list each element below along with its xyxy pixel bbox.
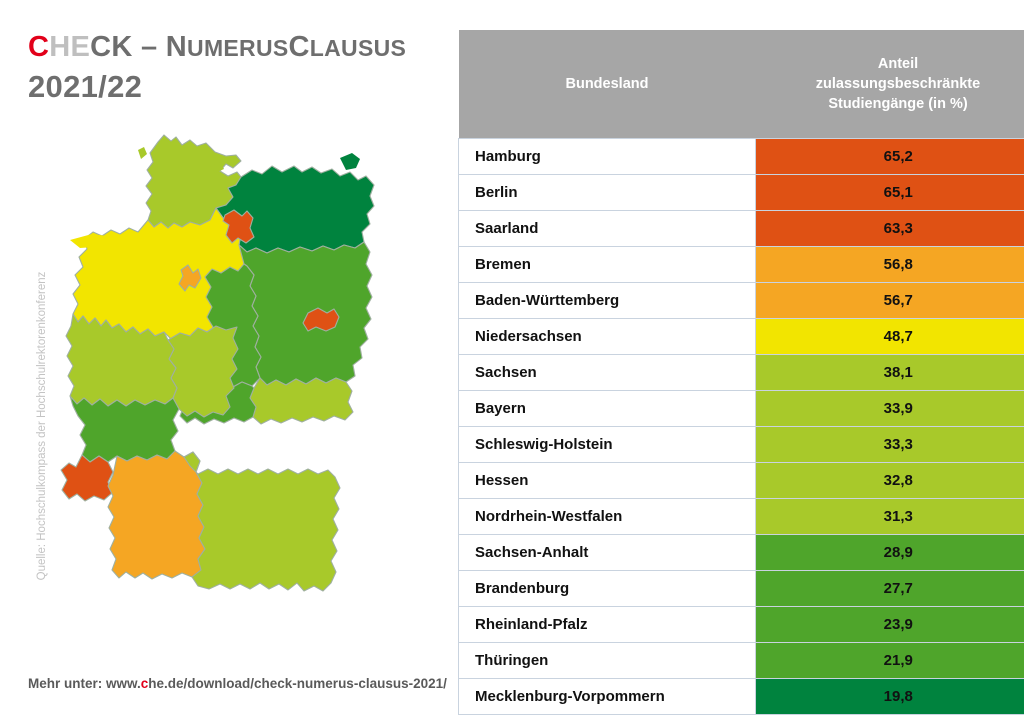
left-panel: CHECK – NUMERUSCLAUSUS 2021/22 Quelle: H…	[0, 0, 450, 708]
table-row[interactable]: Thüringen21,9	[459, 643, 1024, 679]
cell-anteil: 19,8	[756, 679, 1024, 715]
cell-bundesland: Hamburg	[459, 139, 756, 175]
cell-bundesland: Schleswig-Holstein	[459, 427, 756, 463]
column-header-anteil: Anteil zulassungsbeschränkte Studiengäng…	[756, 30, 1024, 139]
cell-bundesland: Baden-Württemberg	[459, 283, 756, 319]
table-row[interactable]: Berlin65,1	[459, 175, 1024, 211]
cell-bundesland: Hessen	[459, 463, 756, 499]
cell-bundesland: Sachsen-Anhalt	[459, 535, 756, 571]
table-row[interactable]: Niedersachsen48,7	[459, 319, 1024, 355]
table-row[interactable]: Baden-Württemberg56,7	[459, 283, 1024, 319]
cell-bundesland: Mecklenburg-Vorpommern	[459, 679, 756, 715]
title-lausus: LAUSUS	[310, 35, 406, 61]
page-subtitle-year: 2021/22	[28, 67, 448, 107]
cell-anteil: 33,3	[756, 427, 1024, 463]
cell-bundesland: Bayern	[459, 391, 756, 427]
page-title: CHECK – NUMERUSCLAUSUS	[28, 30, 448, 65]
table-row[interactable]: Sachsen-Anhalt28,9	[459, 535, 1024, 571]
cell-bundesland: Niedersachsen	[459, 319, 756, 355]
cell-bundesland: Berlin	[459, 175, 756, 211]
cell-anteil: 28,9	[756, 535, 1024, 571]
map-region-sachsen[interactable]	[250, 378, 353, 424]
map-region-baden-wuerttemberg[interactable]	[108, 451, 205, 579]
title-block: CHECK – NUMERUSCLAUSUS 2021/22	[28, 30, 448, 107]
column-header-bundesland: Bundesland	[459, 30, 756, 139]
column-header-anteil-line2: zulassungsbeschränkte	[766, 74, 1024, 94]
table-row[interactable]: Hamburg65,2	[459, 139, 1024, 175]
germany-map-svg	[40, 128, 440, 668]
table-row[interactable]: Nordrhein-Westfalen31,3	[459, 499, 1024, 535]
cell-anteil: 65,1	[756, 175, 1024, 211]
cell-anteil: 63,3	[756, 211, 1024, 247]
cell-anteil: 56,7	[756, 283, 1024, 319]
cell-anteil: 48,7	[756, 319, 1024, 355]
table-body: Hamburg65,2Berlin65,1Saarland63,3Bremen5…	[459, 139, 1024, 715]
cell-anteil: 23,9	[756, 607, 1024, 643]
cell-bundesland: Nordrhein-Westfalen	[459, 499, 756, 535]
map-region-saarland[interactable]	[61, 455, 113, 501]
ranking-table-wrapper: Bundesland Anteil zulassungsbeschränkte …	[458, 30, 1000, 698]
table-row[interactable]: Hessen32,8	[459, 463, 1024, 499]
table-row[interactable]: Saarland63,3	[459, 211, 1024, 247]
table-row[interactable]: Schleswig-Holstein33,3	[459, 427, 1024, 463]
table-row[interactable]: Bayern33,9	[459, 391, 1024, 427]
title-umerus: UMERUS	[187, 35, 288, 61]
cell-bundesland: Bremen	[459, 247, 756, 283]
footer-link[interactable]: Mehr unter: www.che.de/download/check-nu…	[28, 676, 447, 691]
table-head: Bundesland Anteil zulassungsbeschränkte …	[459, 30, 1024, 139]
footer-prefix: Mehr unter: www.	[28, 676, 141, 691]
table-row[interactable]: Bremen56,8	[459, 247, 1024, 283]
cell-bundesland: Saarland	[459, 211, 756, 247]
cell-anteil: 65,2	[756, 139, 1024, 175]
cell-anteil: 56,8	[756, 247, 1024, 283]
table-row[interactable]: Sachsen38,1	[459, 355, 1024, 391]
column-header-anteil-line1: Anteil	[766, 54, 1024, 74]
title-ck: CK	[90, 31, 133, 63]
cell-anteil: 21,9	[756, 643, 1024, 679]
map-region-schleswig-holstein-island	[138, 147, 147, 159]
ranking-table: Bundesland Anteil zulassungsbeschränkte …	[458, 30, 1024, 715]
table-row[interactable]: Mecklenburg-Vorpommern19,8	[459, 679, 1024, 715]
table-header-row: Bundesland Anteil zulassungsbeschränkte …	[459, 30, 1024, 139]
map-region-hessen[interactable]	[168, 326, 238, 417]
cell-anteil: 33,9	[756, 391, 1024, 427]
map-region-brandenburg[interactable]	[239, 242, 372, 385]
table-row[interactable]: Brandenburg27,7	[459, 571, 1024, 607]
footer-suffix: he.de/download/check-numerus-clausus-202…	[148, 676, 447, 691]
cell-bundesland: Rheinland-Pfalz	[459, 607, 756, 643]
title-c: C	[28, 31, 49, 63]
infographic-page: CHECK – NUMERUSCLAUSUS 2021/22 Quelle: H…	[0, 0, 1024, 708]
cell-anteil: 38,1	[756, 355, 1024, 391]
map-region-mecklenburg-vorpommern-island	[340, 153, 360, 170]
cell-anteil: 31,3	[756, 499, 1024, 535]
cell-bundesland: Sachsen	[459, 355, 756, 391]
map-region-rheinland-pfalz[interactable]	[70, 396, 179, 462]
germany-map	[40, 128, 440, 668]
title-c2: C	[289, 31, 310, 63]
title-n: N	[166, 31, 187, 63]
cell-bundesland: Thüringen	[459, 643, 756, 679]
table-row[interactable]: Rheinland-Pfalz23,9	[459, 607, 1024, 643]
title-he: HE	[49, 31, 90, 63]
cell-anteil: 27,7	[756, 571, 1024, 607]
cell-anteil: 32,8	[756, 463, 1024, 499]
title-dash: –	[133, 31, 166, 63]
map-region-bayern[interactable]	[184, 452, 340, 591]
cell-bundesland: Brandenburg	[459, 571, 756, 607]
column-header-anteil-line3: Studiengänge (in %)	[766, 94, 1024, 114]
